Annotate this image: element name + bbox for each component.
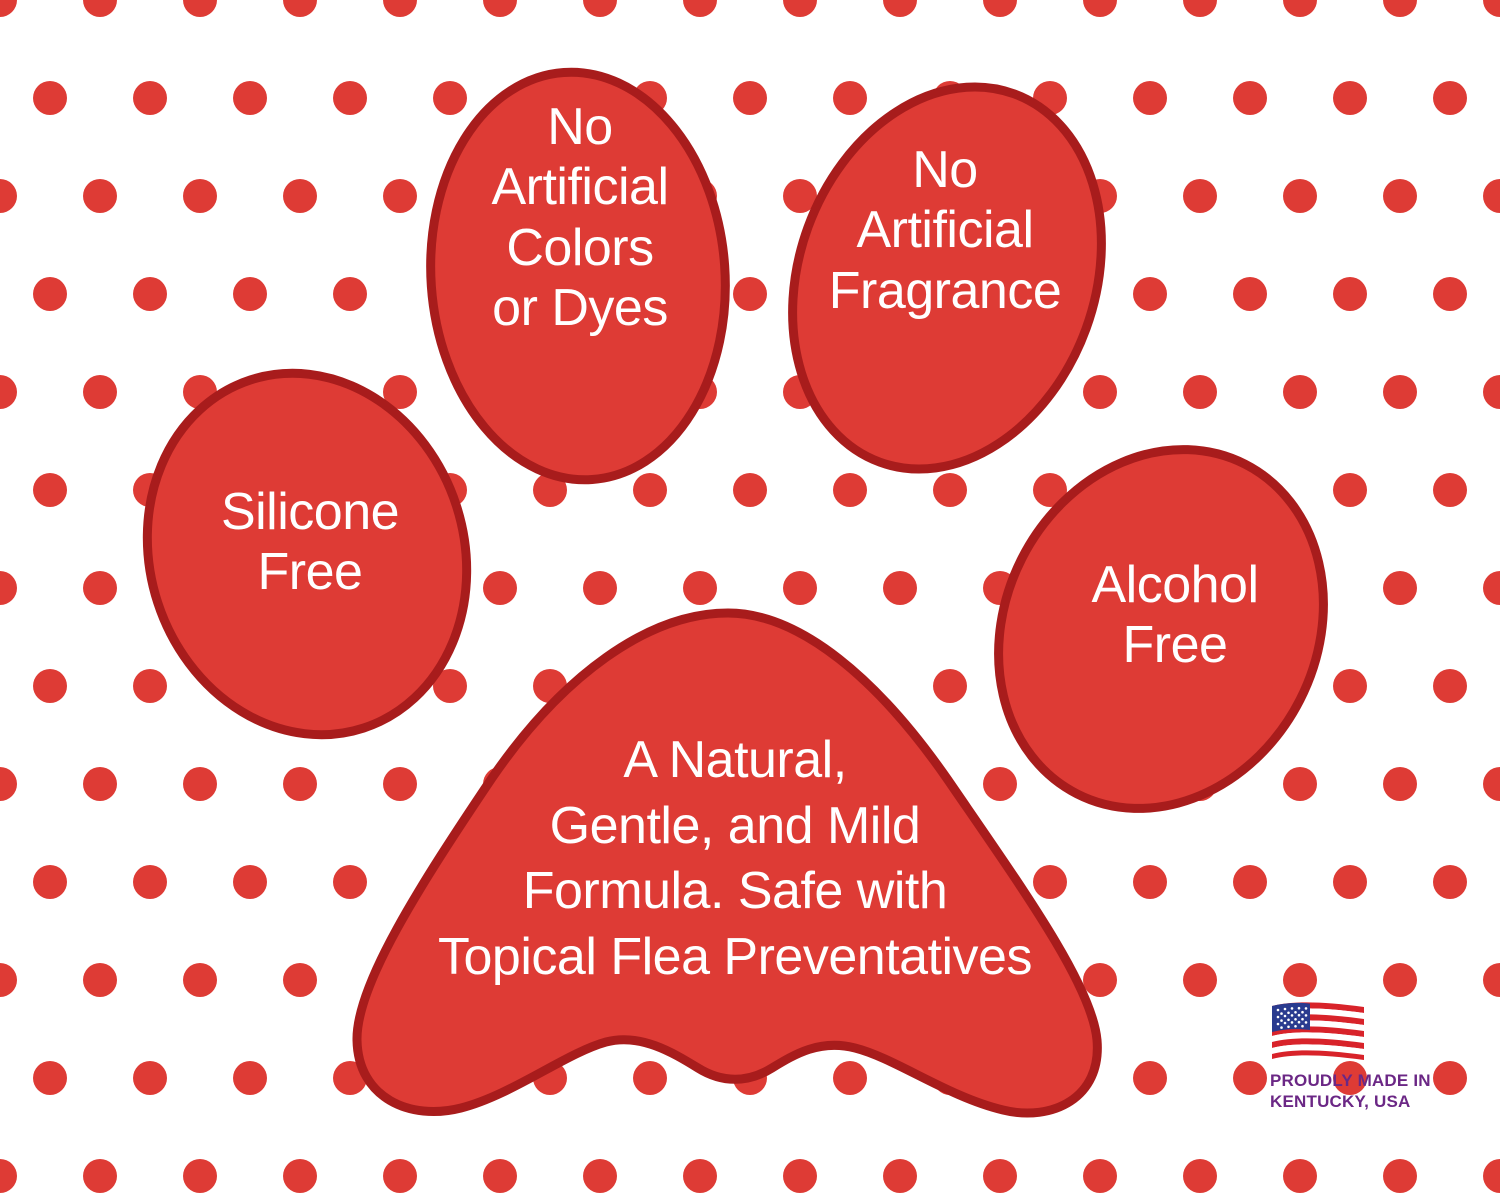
main-paw-pad-shape <box>357 613 1097 1113</box>
toe-pad-silicone-free-shape <box>101 331 513 776</box>
toe-pad-no-artificial-colors-shape <box>417 62 739 490</box>
toe-pad-alcohol-free-shape <box>938 393 1384 864</box>
usa-flag-icon <box>1270 1000 1366 1062</box>
made-in-usa-label: PROUDLY MADE IN KENTUCKY, USA <box>1270 1070 1460 1113</box>
paw-benefits-graphic: Silicone Free No Artificial Colors or Dy… <box>0 0 1500 1200</box>
toe-pad-no-artificial-fragrance-shape <box>741 43 1153 513</box>
made-in-usa-badge: PROUDLY MADE IN KENTUCKY, USA <box>1270 1000 1460 1113</box>
